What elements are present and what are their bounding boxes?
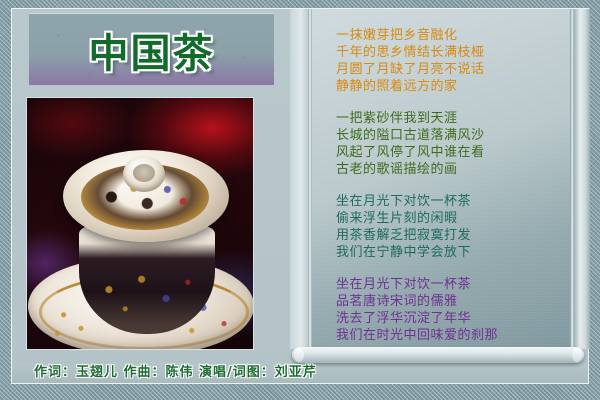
credits-text: 作词：玉翅儿 作曲：陈伟 演唱/词图：刘亚芹	[17, 361, 317, 380]
cup-body-shape	[79, 226, 215, 334]
poem-stanza: 坐在月光下对饮一杯茶 偷来浮生片刻的闲暇 用茶香解乏把寂寞打发 我们在宁静中学会…	[336, 193, 574, 261]
poem-panel: 一抹嫩芽把乡音融化 千年的思乡情结长满枝桠 月圆了月缺了月亮不说话 静静的照着远…	[312, 9, 574, 349]
poem-line: 千年的思乡情结长满枝桠	[336, 44, 574, 61]
title-band: 中国茶	[29, 13, 274, 85]
poem-line: 一抹嫩芽把乡音融化	[336, 27, 574, 44]
chinese-tea-gaiwan-photo	[27, 98, 253, 349]
poem-line: 月圆了月缺了月亮不说话	[336, 61, 574, 78]
poem-line: 坐在月光下对饮一杯茶	[336, 193, 574, 210]
poem-line: 洗去了浮华沉淀了年华	[336, 310, 574, 327]
lid-knob-hollow	[133, 164, 155, 182]
poem-line: 古老的歌谣描绘的画	[336, 161, 574, 178]
page-root: 中国茶	[0, 0, 600, 400]
poem-line: 品茗唐诗宋词的儒雅	[336, 293, 574, 310]
poem-line: 我们在宁静中学会放下	[336, 244, 574, 261]
poem-line: 长城的隘口古道落满风沙	[336, 127, 574, 144]
poem-line: 用茶香解乏把寂寞打发	[336, 227, 574, 244]
poem-line: 风起了风停了风中谁在看	[336, 144, 574, 161]
page-title: 中国茶	[89, 21, 215, 79]
vertical-scroll-rail[interactable]	[574, 9, 590, 349]
poem-line: 偷来浮生片刻的闲暇	[336, 210, 574, 227]
poem-line: 一把紫砂伴我到天涯	[336, 110, 574, 127]
credits-bar: 作词：玉翅儿 作曲：陈伟 演唱/词图：刘亚芹	[17, 357, 582, 383]
photo-frame	[26, 97, 254, 350]
poem-gutter	[290, 9, 310, 349]
poem-line: 坐在月光下对饮一杯茶	[336, 276, 574, 293]
poem-stanza: 一抹嫩芽把乡音融化 千年的思乡情结长满枝桠 月圆了月缺了月亮不说话 静静的照着远…	[336, 27, 574, 95]
content-card: 中国茶	[11, 8, 589, 384]
poem-line: 静静的照着远方的家	[336, 78, 574, 95]
left-column: 中国茶	[12, 9, 290, 383]
poem-stanza: 一把紫砂伴我到天涯 长城的隘口古道落满风沙 风起了风停了风中谁在看 古老的歌谣描…	[336, 110, 574, 178]
poem-stanza: 坐在月光下对饮一杯茶 品茗唐诗宋词的儒雅 洗去了浮华沉淀了年华 我们在时光中回味…	[336, 276, 574, 344]
poem-line: 我们在时光中回味爱的刹那	[336, 327, 574, 344]
